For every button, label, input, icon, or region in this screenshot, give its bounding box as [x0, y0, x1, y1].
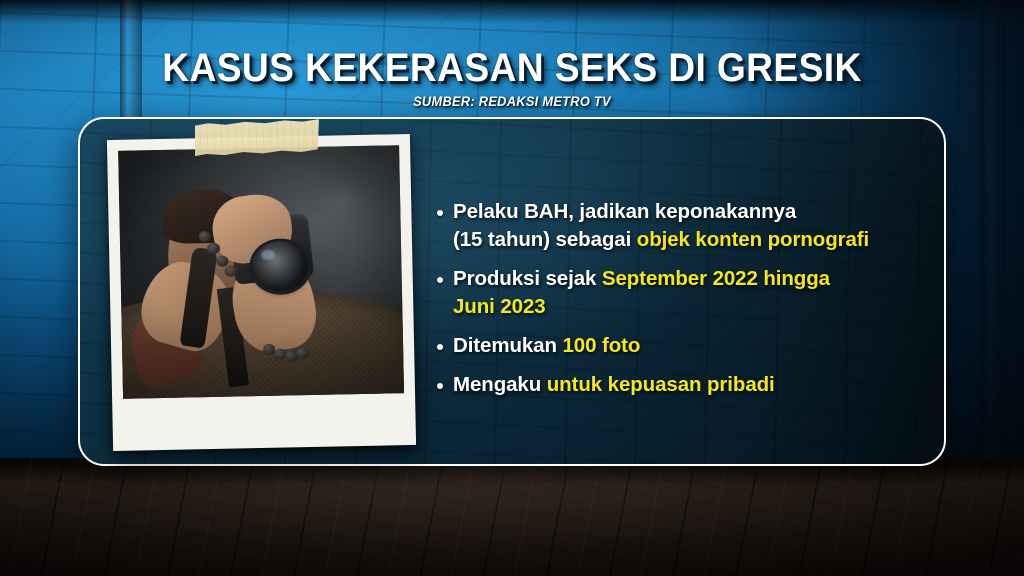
broadcast-graphic-slide: KASUS KEKERASAN SEKS DI GRESIK SUMBER: R…	[0, 0, 1024, 576]
bullet-dot-icon	[437, 344, 443, 350]
polaroid-frame	[107, 134, 416, 451]
bullet-text: Ditemukan 100 foto	[453, 332, 640, 360]
bullet-plain-text: Pelaku BAH, jadikan keponakannya	[453, 200, 796, 223]
bullet-highlight-text: objek konten pornografi	[637, 228, 869, 251]
bullet-item: Ditemukan 100 foto	[437, 332, 937, 360]
page-title: KASUS KEKERASAN SEKS DI GRESIK	[36, 46, 988, 90]
bullet-plain-text: (15 tahun) sebagai	[453, 228, 637, 251]
bullet-highlight-text: 100 foto	[563, 334, 641, 357]
bullet-text: Mengaku untuk kepuasan pribadi	[453, 371, 775, 399]
bullet-plain-text: Mengaku	[453, 373, 547, 396]
bullet-item: Mengaku untuk kepuasan pribadi	[437, 371, 937, 399]
bullet-highlight-text: September 2022 hingga	[602, 267, 830, 290]
bullet-plain-text: Produksi sejak	[453, 267, 602, 290]
bullet-dot-icon	[437, 277, 443, 283]
header-block: KASUS KEKERASAN SEKS DI GRESIK SUMBER: R…	[0, 46, 1024, 109]
bullet-item: Pelaku BAH, jadikan keponakannya(15 tahu…	[437, 198, 937, 254]
photo-vignette	[118, 145, 404, 399]
source-subtitle: SUMBER: REDAKSI METRO TV	[26, 94, 999, 109]
bullet-dot-icon	[437, 383, 443, 389]
bullet-dot-icon	[437, 210, 443, 216]
masking-tape-icon	[192, 118, 321, 157]
bullet-highlight-text: Juni 2023	[453, 295, 546, 318]
floor-vignette	[0, 458, 1024, 576]
bullet-list: Pelaku BAH, jadikan keponakannya(15 tahu…	[437, 198, 937, 410]
bullet-text: Pelaku BAH, jadikan keponakannya(15 tahu…	[453, 198, 869, 254]
photo-image	[118, 145, 404, 399]
bullet-item: Produksi sejak September 2022 hinggaJuni…	[437, 265, 937, 321]
bullet-highlight-text: untuk kepuasan pribadi	[547, 373, 775, 396]
bullet-text: Produksi sejak September 2022 hinggaJuni…	[453, 265, 830, 321]
bullet-plain-text: Ditemukan	[453, 334, 563, 357]
tape-fiber-texture	[192, 118, 321, 157]
